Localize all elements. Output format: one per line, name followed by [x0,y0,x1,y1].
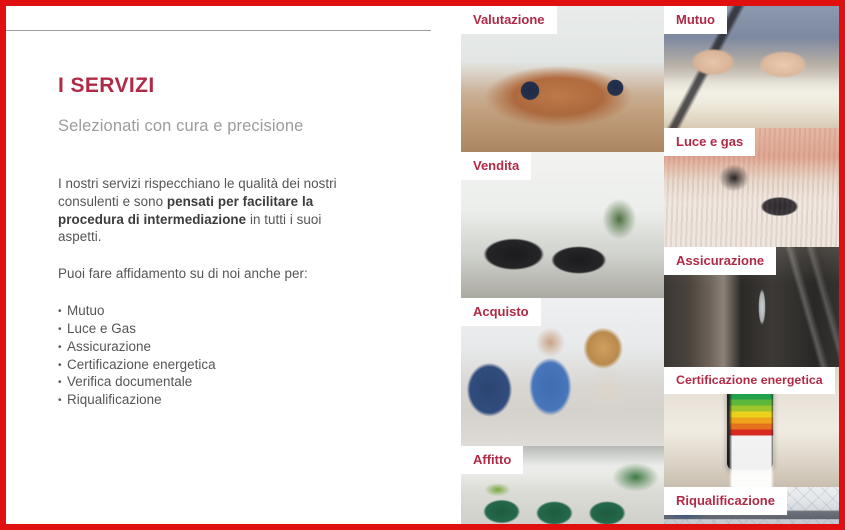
list-item: Certificazione energetica [58,356,368,374]
intro-paragraph: I nostri servizi rispecchiano le qualità… [58,175,368,246]
list-item: Luce e Gas [58,320,368,338]
page-subtitle: Selezionati con cura e precisione [58,117,368,137]
services-bullet-list: Mutuo Luce e Gas Assicurazione Certifica… [58,302,368,409]
photo-tile-vendita: Vendita [461,152,664,298]
photo-tag-valutazione: Valutazione [461,6,557,34]
photo-tag-riqualificazione: Riqualificazione [664,487,787,515]
photo-tag-mutuo: Mutuo [664,6,727,34]
paragraph-spacer [58,246,368,265]
photo-tile-luce-e-gas: Luce e gas [664,128,839,247]
text-panel: I SERVIZI Selezionati con cura e precisi… [6,6,461,524]
photo-tile-certificazione-energetica: Certificazione energetica [664,367,839,487]
list-item: Assicurazione [58,338,368,356]
list-item: Verifica documentale [58,373,368,391]
brochure-page: I SERVIZI Selezionati con cura e precisi… [0,0,845,530]
photo-tag-acquisto: Acquisto [461,298,541,326]
photo-tile-valutazione: Valutazione [461,6,664,152]
photo-tag-affitto: Affitto [461,446,523,474]
lead-in-paragraph: Puoi fare affidamento su di noi anche pe… [58,265,368,283]
text-content: I SERVIZI Selezionati con cura e precisi… [58,74,368,409]
image-mosaic: Valutazione Vendita Acquisto Affitto Mut… [461,6,839,524]
mosaic-column-right: Mutuo Luce e gas Assicurazione Certifica… [664,6,839,524]
page-title: I SERVIZI [58,74,368,97]
mosaic-column-left: Valutazione Vendita Acquisto Affitto [461,6,664,524]
photo-tag-assicurazione: Assicurazione [664,247,776,275]
list-item: Mutuo [58,302,368,320]
photo-tag-vendita: Vendita [461,152,531,180]
photo-tile-affitto: Affitto [461,446,664,524]
list-item: Riqualificazione [58,391,368,409]
photo-tile-assicurazione: Assicurazione [664,247,839,367]
photo-tile-mutuo: Mutuo [664,6,839,128]
photo-tile-acquisto: Acquisto [461,298,664,446]
smartphone-icon [727,381,773,470]
photo-tag-luce-e-gas: Luce e gas [664,128,755,156]
header-divider-rule [6,30,431,31]
photo-tag-certificazione-energetica: Certificazione energetica [664,367,835,394]
photo-tile-riqualificazione: Riqualificazione [664,487,839,524]
